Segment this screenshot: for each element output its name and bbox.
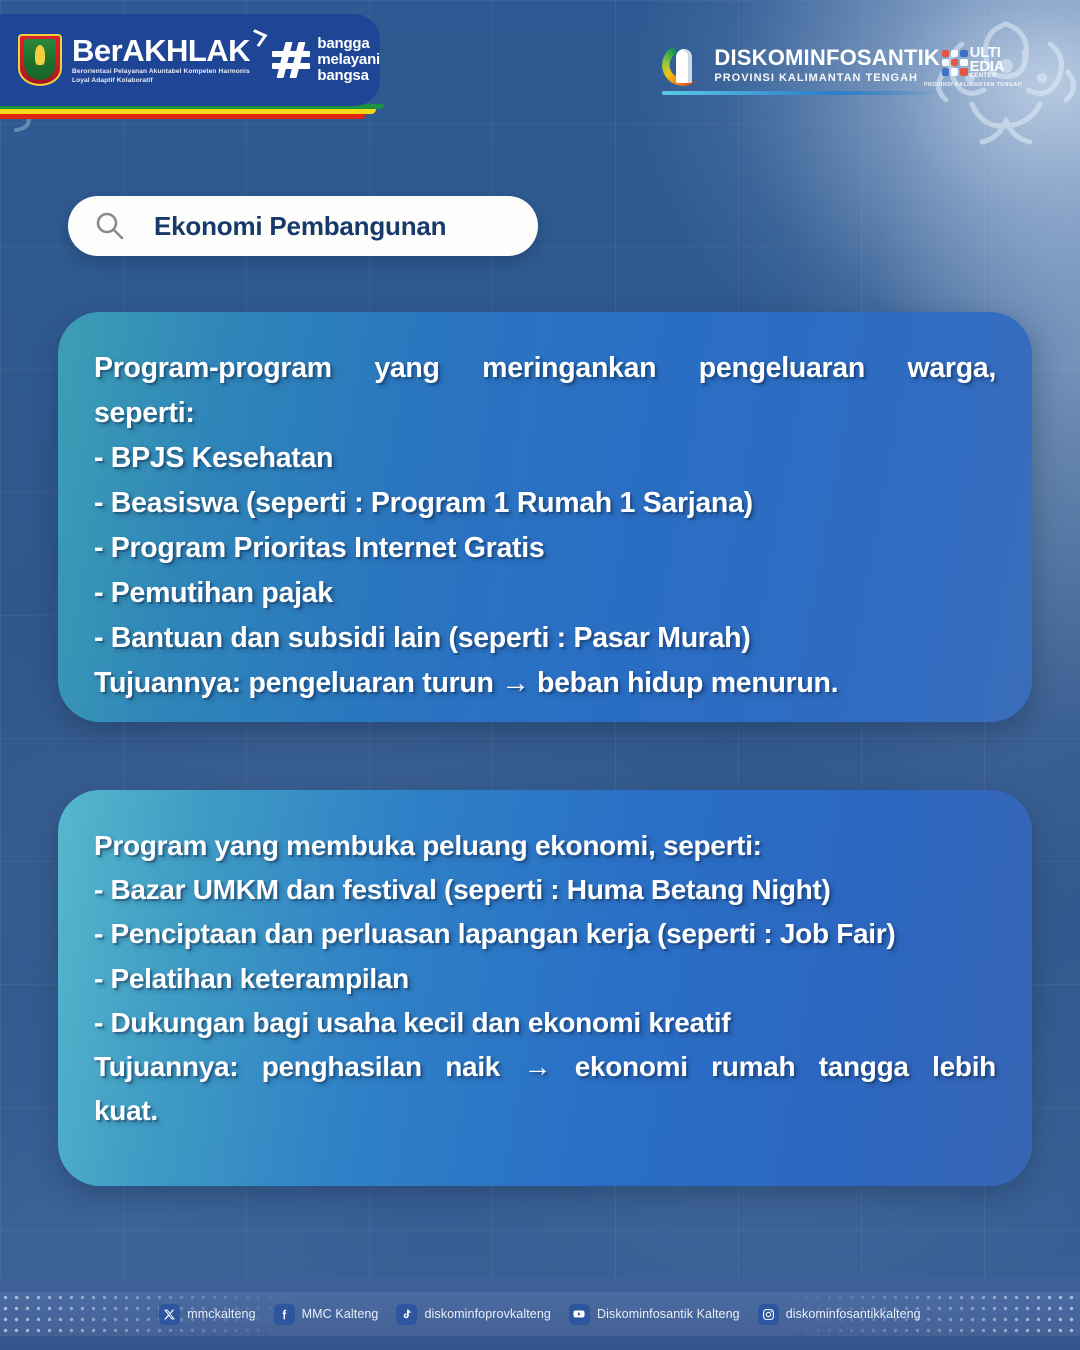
- social-link-instagram[interactable]: diskominfosantikkalteng: [758, 1304, 921, 1325]
- mmc-province: PROVINSI KALIMANTAN TENGAH: [924, 82, 1022, 88]
- search-icon: [94, 210, 126, 242]
- agency-name: DISKOMINFOSANTIK: [714, 47, 940, 69]
- card-line: - Pelatihan keterampilan: [94, 957, 996, 1001]
- hashtag-icon: [271, 40, 311, 80]
- card-line: - Bazar UMKM dan festival (seperti : Hum…: [94, 868, 996, 912]
- social-handle: MMC Kalteng: [302, 1307, 379, 1321]
- search-pill[interactable]: Ekonomi Pembangunan: [68, 196, 538, 256]
- search-input[interactable]: Ekonomi Pembangunan: [154, 211, 446, 242]
- footer: mmckalteng MMC Kalteng diskominfoprovkal…: [0, 1278, 1080, 1350]
- instagram-icon: [758, 1304, 779, 1325]
- diskominfosantik-logo-icon: [662, 44, 704, 86]
- content-card-pengeluaran: Program-program yang meringankan pengelu…: [58, 312, 1032, 722]
- card-line: - Bantuan dan subsidi lain (seperti : Pa…: [94, 616, 996, 661]
- card-line: - Program Prioritas Internet Gratis: [94, 526, 996, 571]
- kalteng-crest-icon: [18, 34, 62, 86]
- social-link-x[interactable]: mmckalteng: [159, 1304, 255, 1325]
- berakhlak-banner: BerAKHLAK Berorientasi Pelayanan Akuntab…: [0, 14, 380, 106]
- poster-canvas: BerAKHLAK Berorientasi Pelayanan Akuntab…: [0, 0, 1080, 1350]
- youtube-icon: [569, 1304, 590, 1325]
- x-twitter-icon: [159, 1304, 180, 1325]
- tagline-line-2: melayani: [317, 52, 380, 68]
- card-line: - Pemutihan pajak: [94, 571, 996, 616]
- mmc-word-2: EDIA: [970, 60, 1005, 74]
- card-line: - Beasiswa (seperti : Program 1 Rumah 1 …: [94, 481, 996, 526]
- berakhlak-subtitle: Berorientasi Pelayanan Akuntabel Kompete…: [72, 68, 251, 86]
- tagline-line-3: bangsa: [317, 68, 380, 84]
- card-line: - Penciptaan dan perluasan lapangan kerj…: [94, 912, 996, 956]
- social-handle: Diskominfosantik Kalteng: [597, 1307, 740, 1321]
- social-links: mmckalteng MMC Kalteng diskominfoprovkal…: [0, 1292, 1080, 1336]
- header: BerAKHLAK Berorientasi Pelayanan Akuntab…: [0, 0, 1080, 150]
- social-handle: diskominfosantikkalteng: [786, 1307, 921, 1321]
- social-link-tiktok[interactable]: diskominfoprovkalteng: [396, 1304, 550, 1325]
- card-line: - Dukungan bagi usaha kecil dan ekonomi …: [94, 1001, 996, 1045]
- facebook-icon: [274, 1304, 295, 1325]
- card-line: Program-program yang meringankan pengelu…: [94, 346, 996, 391]
- social-link-youtube[interactable]: Diskominfosantik Kalteng: [569, 1304, 740, 1325]
- berakhlak-title: BerAKHLAK: [72, 35, 251, 66]
- card-line: Program yang membuka peluang ekonomi, se…: [94, 824, 996, 868]
- social-handle: mmckalteng: [187, 1307, 255, 1321]
- agency-underline: [662, 91, 940, 95]
- tagline-line-1: bangga: [317, 36, 380, 52]
- card-line: seperti:: [94, 391, 996, 436]
- bangga-melayani-bangsa-lockup: bangga melayani bangsa: [271, 36, 380, 85]
- banner-stripe-red: [0, 114, 366, 119]
- card-line: Tujuannya: penghasilan naik → ekonomi ru…: [94, 1045, 996, 1089]
- agency-province: PROVINSI KALIMANTAN TENGAH: [714, 72, 940, 84]
- card-line: Tujuannya: pengeluaran turun → beban hid…: [94, 661, 996, 706]
- card-line: kuat.: [94, 1089, 996, 1133]
- tiktok-icon: [396, 1304, 417, 1325]
- social-link-facebook[interactable]: MMC Kalteng: [274, 1304, 379, 1325]
- agency-lockup: DISKOMINFOSANTIK PROVINSI KALIMANTAN TEN…: [662, 44, 940, 86]
- mmc-pixel-dots: [942, 50, 968, 76]
- content-card-peluang: Program yang membuka peluang ekonomi, se…: [58, 790, 1032, 1186]
- social-handle: diskominfoprovkalteng: [424, 1307, 550, 1321]
- card-line: - BPJS Kesehatan: [94, 436, 996, 481]
- multimedia-center-logo-icon: ULTI EDIA CENTER PROVINSI KALIMANTAN TEN…: [924, 46, 1022, 88]
